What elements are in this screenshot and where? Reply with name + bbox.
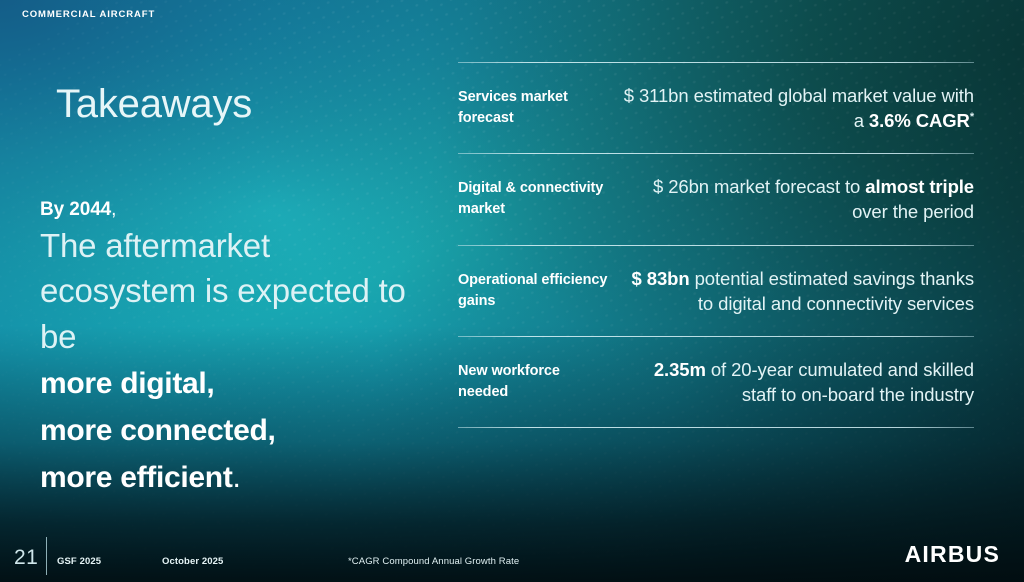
value-post: over the period bbox=[852, 201, 974, 222]
value-post: potential estimated savings thanks to di… bbox=[690, 268, 974, 314]
lede-bold-line-2: more connected, bbox=[40, 409, 430, 453]
takeaways-list: Services market forecast $ 311bn estimat… bbox=[458, 62, 974, 428]
lede-year-comma: , bbox=[111, 199, 116, 220]
footer-event-name: GSF 2025 bbox=[57, 556, 101, 567]
footnote-marker: * bbox=[970, 111, 974, 123]
value-highlight: 2.35m bbox=[654, 359, 706, 380]
takeaway-label: New workforce needed bbox=[458, 361, 608, 403]
value-highlight: 3.6% CAGR bbox=[869, 110, 970, 131]
takeaway-label: Digital & connectivity market bbox=[458, 178, 608, 220]
slide-footer: 21 GSF 2025 October 2025 *CAGR Compound … bbox=[0, 526, 1024, 582]
lede-block: By 2044, The aftermarket ecosystem is ex… bbox=[40, 198, 430, 500]
lede-bold-period: . bbox=[233, 461, 241, 494]
eyebrow-label: COMMERCIAL AIRCRAFT bbox=[22, 9, 155, 20]
lede-year-line: By 2044, bbox=[40, 198, 430, 222]
footer-divider bbox=[46, 537, 47, 575]
takeaway-row: Services market forecast $ 311bn estimat… bbox=[458, 63, 974, 153]
lede-year-text: By 2044 bbox=[40, 199, 111, 220]
lede-light-text: The aftermarket ecosystem is expected to… bbox=[40, 223, 430, 360]
takeaway-value: 2.35m of 20-year cumulated and skilled s… bbox=[622, 357, 974, 407]
lede-bold-line-3-text: more efficient bbox=[40, 461, 233, 494]
takeaway-value: $ 83bn potential estimated savings thank… bbox=[622, 266, 974, 316]
footer-footnote: *CAGR Compound Annual Growth Rate bbox=[348, 556, 519, 567]
takeaway-value: $ 311bn estimated global market value wi… bbox=[622, 83, 974, 133]
divider-rule bbox=[458, 427, 974, 428]
value-highlight: almost triple bbox=[865, 176, 974, 197]
takeaway-value: $ 26bn market forecast to almost triple … bbox=[622, 174, 974, 224]
lede-bold-line-3: more efficient. bbox=[40, 456, 430, 500]
page-number: 21 bbox=[14, 546, 38, 570]
value-pre: $ 26bn market forecast to bbox=[653, 176, 865, 197]
value-highlight: $ 83bn bbox=[632, 268, 690, 289]
footer-date: October 2025 bbox=[162, 556, 223, 567]
page-title: Takeaways bbox=[56, 84, 430, 124]
value-post: of 20-year cumulated and skilled staff t… bbox=[706, 359, 974, 405]
left-column: Takeaways By 2044, The aftermarket ecosy… bbox=[40, 84, 430, 500]
takeaway-row: Operational efficiency gains $ 83bn pote… bbox=[458, 246, 974, 336]
takeaway-label: Operational efficiency gains bbox=[458, 270, 608, 312]
takeaway-row: Digital & connectivity market $ 26bn mar… bbox=[458, 154, 974, 244]
takeaway-label: Services market forecast bbox=[458, 87, 608, 129]
takeaway-row: New workforce needed 2.35m of 20-year cu… bbox=[458, 337, 974, 427]
slide-root: COMMERCIAL AIRCRAFT Takeaways By 2044, T… bbox=[0, 0, 1024, 582]
airbus-logo: AIRBUS bbox=[905, 541, 1000, 568]
lede-bold-line-1: more digital, bbox=[40, 362, 430, 406]
